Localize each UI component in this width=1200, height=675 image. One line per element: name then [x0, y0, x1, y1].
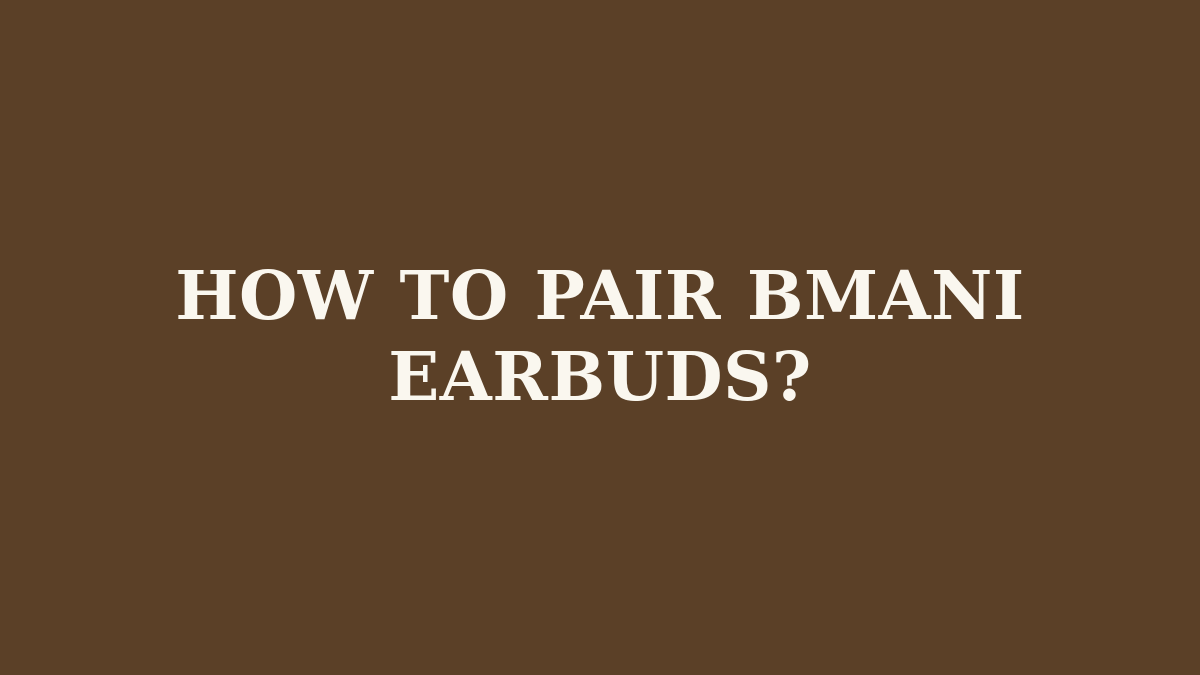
- title-block: HOW TO PAIR BMANI EARBUDS?: [100, 255, 1100, 417]
- page-title-line-1: HOW TO PAIR BMANI: [100, 255, 1100, 336]
- page-title-line-2: EARBUDS?: [100, 336, 1100, 417]
- hero-banner: HOW TO PAIR BMANI EARBUDS?: [0, 0, 1200, 675]
- page-title: HOW TO PAIR BMANI EARBUDS?: [100, 255, 1100, 417]
